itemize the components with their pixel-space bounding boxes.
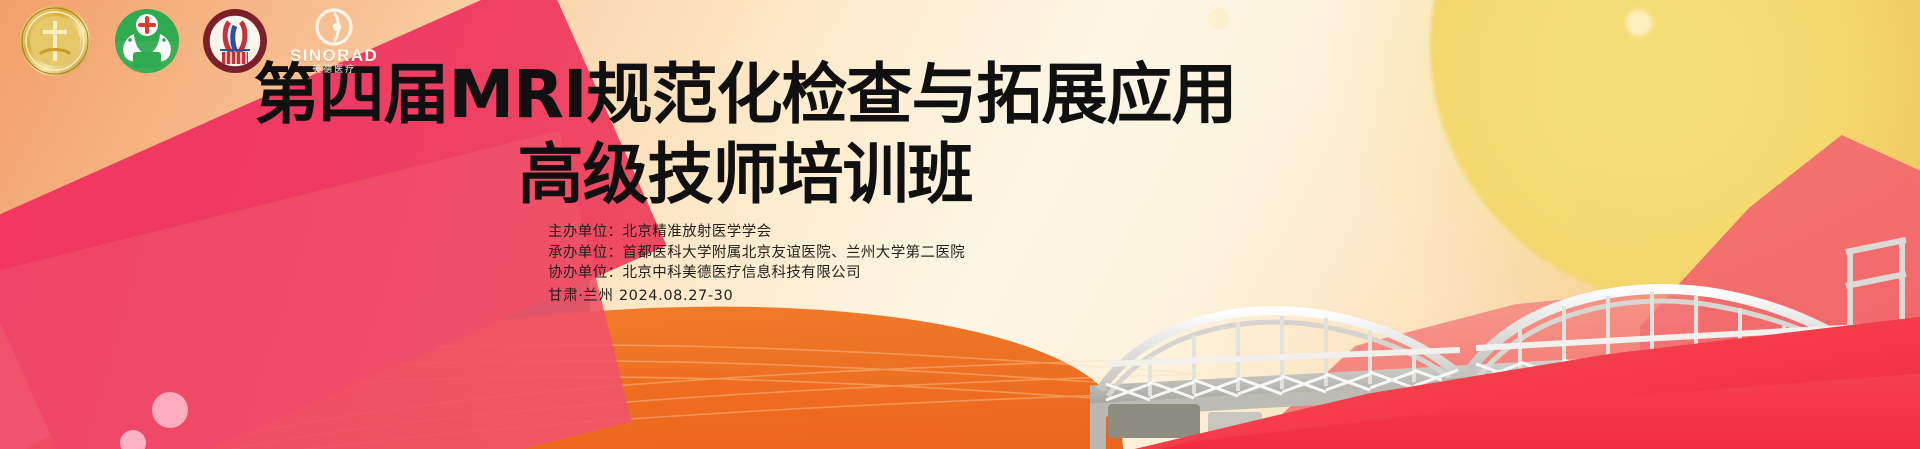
beijing-precision-radiology-society-logo [18,4,92,78]
banner-title: 第四届MRI规范化检查与拓展应用 高级技师培训班 [0,62,1490,208]
venue-date-line: 甘肃·兰州 2024.08.27-30 [548,286,965,307]
sinorad-wordmark: SINORAD [290,47,378,64]
conference-banner: SINORAD 美德医疗 第四届MRI规范化检查与拓展应用 高级技师培训班 主办… [0,0,1920,449]
host-organization-line: 主办单位：北京精准放射医学学会 [548,222,965,243]
co-organizer-line: 协办单位：北京中科美德医疗信息科技有限公司 [548,263,965,284]
lanzhou-university-second-hospital-logo [202,8,268,74]
beijing-friendship-hospital-logo [114,8,180,74]
title-line-2: 高级技师培训班 [0,142,1490,208]
decorative-dot [152,392,188,428]
sinorad-eye-icon [315,8,353,46]
organizer-info-block: 主办单位：北京精准放射医学学会 承办单位：首都医科大学附属北京友谊医院、兰州大学… [548,222,965,306]
decorative-dot [1208,8,1230,30]
sinorad-subtitle: 美德医疗 [312,65,356,74]
sun-speck [1626,10,1652,36]
sinorad-logo: SINORAD 美德医疗 [290,8,378,74]
decorative-dot [120,430,146,449]
undertaking-organization-line: 承办单位：首都医科大学附属北京友谊医院、兰州大学第二医院 [548,243,965,264]
logo-row: SINORAD 美德医疗 [18,4,378,78]
